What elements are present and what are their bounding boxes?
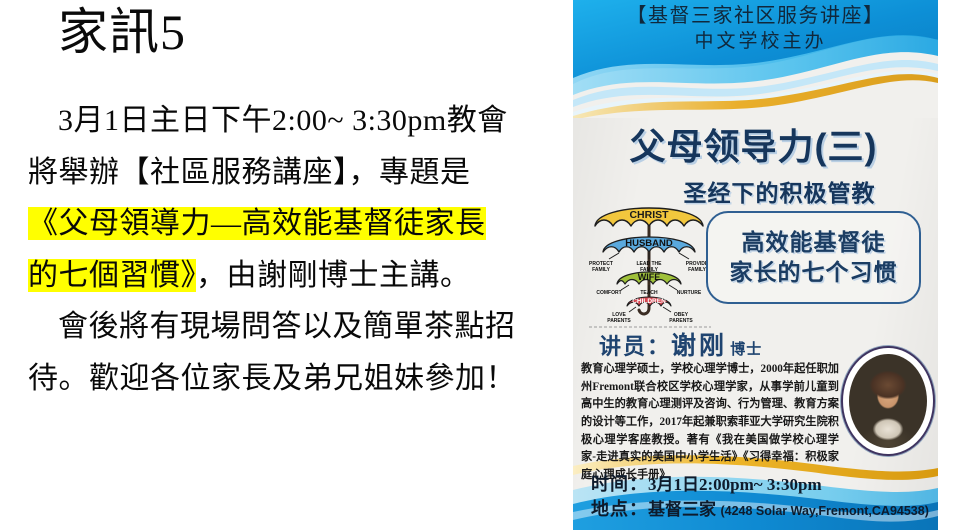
- umbrella-label-husband: HUSBAND: [625, 238, 673, 249]
- speaker-label: 讲员：: [599, 334, 671, 359]
- announcement-line-2: 將舉辦【社區服務講座】，專題是: [28, 156, 471, 189]
- announcement-line-5: 待。歡迎各位家長及弟兄姐妹參加！: [28, 362, 516, 395]
- speaker-name: 谢刚: [671, 332, 727, 360]
- poster-info-place-row: 地点：基督三家 (4248 Solar Way,Fremont,CA94538): [591, 497, 931, 522]
- slide-canvas: 家訊5 3月1日主日下午2:00~ 3:30pm教會 將舉辦【社區服務講座】，專…: [0, 0, 960, 530]
- highlighted-title-line-2: 的七個習慣》: [28, 259, 196, 292]
- poster-info-block: 时间：3月1日2:00pm~ 3:30pm 地点：基督三家 (4248 Sola…: [591, 472, 931, 522]
- poster-title-block: 父母领导力(三) 圣经下的积极管教: [573, 118, 938, 208]
- umbrella-role-comfort: COMFORT: [596, 290, 621, 296]
- right-margin: [938, 0, 960, 530]
- speaker-line: 讲员：谢刚 博士: [599, 326, 762, 362]
- speaker-photo: [849, 354, 927, 448]
- poster-info-place-value: 基督三家: [648, 500, 716, 519]
- umbrella-role-provide-2: FAMILY: [688, 267, 707, 273]
- poster-info-time-label: 时间：: [591, 474, 648, 494]
- announcement-body: 3月1日主日下午2:00~ 3:30pm教會 將舉辦【社區服務講座】，專題是 《…: [28, 95, 568, 405]
- event-poster: 【基督三家社区服务讲座】 中文学校主办 父母领导力(三) 圣经下的积极管教 CH…: [573, 0, 938, 530]
- umbrella-role-nurture: NURTURE: [677, 290, 702, 296]
- announcement-line-1: 3月1日主日下午2:00~ 3:30pm教會: [58, 104, 508, 137]
- announcement-line-4: 會後將有現場問答以及簡單茶點招: [58, 310, 516, 343]
- umbrella-label-wife: WIFE: [638, 272, 661, 282]
- poster-info-time-value: 3月1日2:00pm~ 3:30pm: [648, 475, 822, 494]
- announcement-line-3-tail: ，由謝剛博士主講。: [196, 259, 471, 292]
- poster-header-text: 【基督三家社区服务讲座】 中文学校主办: [573, 4, 938, 55]
- umbrella-label-children: CHILDREN: [632, 298, 666, 305]
- left-text-panel: 家訊5 3月1日主日下午2:00~ 3:30pm教會 將舉辦【社區服務講座】，專…: [0, 0, 573, 530]
- umbrella-role-protect-2: FAMILY: [592, 267, 611, 273]
- poster-info-place-label: 地点：: [591, 499, 648, 519]
- umbrella-hierarchy-diagram: CHRIST HUSBAND PROTECT FAMILY LEAD THE F…: [579, 196, 721, 328]
- poster-title-main: 父母领导力(三): [573, 118, 938, 170]
- poster-header-line-1: 【基督三家社区服务讲座】: [573, 4, 938, 29]
- umbrella-svg: CHRIST HUSBAND PROTECT FAMILY LEAD THE F…: [579, 196, 721, 328]
- announcement-paragraph-1: 3月1日主日下午2:00~ 3:30pm教會 將舉辦【社區服務講座】，專題是 《…: [28, 95, 568, 405]
- speaker-degree: 博士: [730, 341, 762, 358]
- slogan-line-2: 家长的七个习惯: [730, 258, 898, 287]
- page-title: 家訊5: [58, 6, 186, 59]
- poster-header-line-2: 中文学校主办: [573, 29, 938, 55]
- speaker-portrait-avatar: [846, 351, 930, 451]
- umbrella-role-teach: TEACH: [640, 290, 658, 296]
- umbrella-role-obey-2: PARENTS: [669, 318, 693, 324]
- poster-info-time-row: 时间：3月1日2:00pm~ 3:30pm: [591, 472, 931, 497]
- slogan-line-1: 高效能基督徒: [742, 228, 886, 257]
- highlighted-title-line-1: 《父母領導力—高效能基督徒家長: [28, 207, 486, 240]
- poster-info-address: (4248 Solar Way,Fremont,CA94538): [720, 504, 928, 518]
- speaker-bio: 教育心理学硕士，学校心理学博士，2000年起任职加州Fremont联合校区学校心…: [581, 361, 839, 485]
- umbrella-label-christ: CHRIST: [629, 209, 669, 221]
- slogan-box: 高效能基督徒 家长的七个习惯: [706, 211, 921, 304]
- umbrella-role-love-2: PARENTS: [607, 318, 631, 324]
